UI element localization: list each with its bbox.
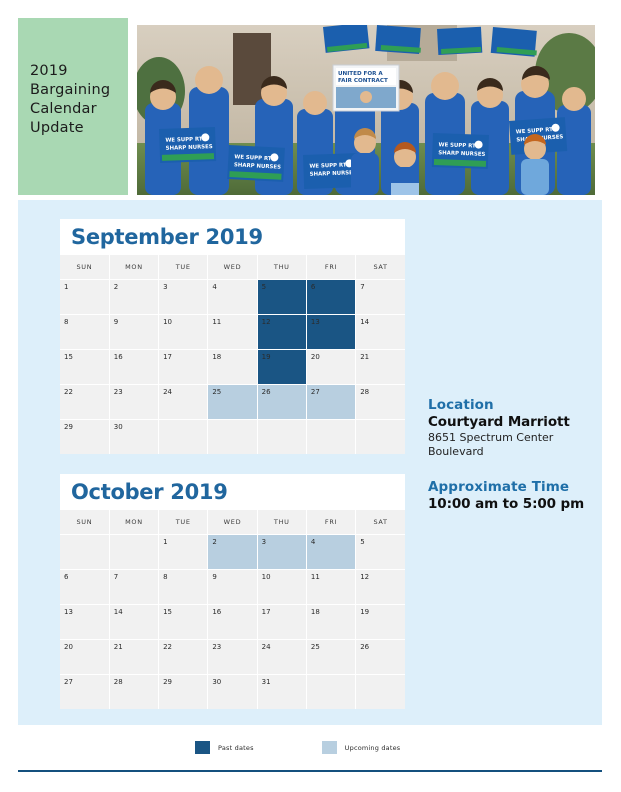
calendar-empty-cell xyxy=(60,535,109,570)
svg-text:UNITED FOR A: UNITED FOR A xyxy=(338,71,383,77)
calendar-empty-cell xyxy=(208,420,257,455)
calendar-day-cell[interactable]: 12 xyxy=(356,570,405,605)
calendar-day-cell[interactable]: 23 xyxy=(109,385,158,420)
calendar-day-cell[interactable]: 12 xyxy=(257,315,306,350)
calendar-week-row: 1234567 xyxy=(60,280,405,315)
weekday-sat: SAT xyxy=(356,510,405,535)
weekday-fri: FRI xyxy=(306,255,355,280)
weekday-sun: SUN xyxy=(60,510,109,535)
calendar-day-cell[interactable]: 3 xyxy=(159,280,208,315)
calendar-day-cell[interactable]: 24 xyxy=(257,640,306,675)
weekday-thu: THU xyxy=(257,510,306,535)
calendar-title-september: September 2019 xyxy=(71,225,263,249)
footer-divider xyxy=(18,770,602,772)
calendar-day-cell[interactable]: 27 xyxy=(306,385,355,420)
calendar-week-row: 12345 xyxy=(60,535,405,570)
calendar-day-cell[interactable]: 7 xyxy=(109,570,158,605)
calendar-day-cell[interactable]: 24 xyxy=(159,385,208,420)
calendar-day-cell[interactable]: 16 xyxy=(109,350,158,385)
calendar-september: September 2019 SUN MON TUE WED THU FRI S… xyxy=(60,219,405,454)
calendar-day-cell[interactable]: 15 xyxy=(60,350,109,385)
page-title: 2019 Bargaining Calendar Update xyxy=(30,62,122,138)
legend-item-upcoming: Upcoming dates xyxy=(322,741,401,754)
calendar-day-cell[interactable]: 14 xyxy=(109,605,158,640)
calendar-day-cell[interactable]: 29 xyxy=(60,420,109,455)
location-heading: Location xyxy=(428,397,603,413)
rally-photo-illustration: UNITED FOR A FAIR CONTRACT WE SUPP RT SH… xyxy=(137,25,595,195)
calendar-day-cell[interactable]: 25 xyxy=(306,640,355,675)
calendar-day-cell[interactable]: 9 xyxy=(109,315,158,350)
calendar-day-cell[interactable]: 6 xyxy=(306,280,355,315)
legend-label-past: Past dates xyxy=(218,744,254,752)
weekday-mon: MON xyxy=(109,255,158,280)
calendar-week-row: 2728293031 xyxy=(60,675,405,710)
calendar-day-cell[interactable]: 18 xyxy=(208,350,257,385)
calendar-title-bar-september: September 2019 xyxy=(60,219,405,255)
calendar-day-cell[interactable]: 31 xyxy=(257,675,306,710)
legend-swatch-upcoming-icon xyxy=(322,741,337,754)
calendar-day-cell[interactable]: 4 xyxy=(208,280,257,315)
calendar-day-cell[interactable]: 1 xyxy=(159,535,208,570)
calendar-title-bar-october: October 2019 xyxy=(60,474,405,510)
calendar-day-cell[interactable]: 1 xyxy=(60,280,109,315)
weekday-sat: SAT xyxy=(356,255,405,280)
title-block: 2019 Bargaining Calendar Update xyxy=(18,18,128,195)
calendar-day-cell[interactable]: 10 xyxy=(257,570,306,605)
calendar-day-cell[interactable]: 11 xyxy=(208,315,257,350)
calendar-day-cell[interactable]: 26 xyxy=(257,385,306,420)
calendar-day-cell[interactable]: 25 xyxy=(208,385,257,420)
calendar-empty-cell xyxy=(257,420,306,455)
calendar-week-row: 22232425262728 xyxy=(60,385,405,420)
calendar-empty-cell xyxy=(356,675,405,710)
calendar-day-cell[interactable]: 27 xyxy=(60,675,109,710)
calendar-week-row: 13141516171819 xyxy=(60,605,405,640)
calendar-day-cell[interactable]: 5 xyxy=(356,535,405,570)
calendar-empty-cell xyxy=(159,420,208,455)
time-value: 10:00 am to 5:00 pm xyxy=(428,496,603,512)
calendar-grid-october: SUN MON TUE WED THU FRI SAT 123456789101… xyxy=(60,510,405,709)
calendar-day-cell[interactable]: 22 xyxy=(60,385,109,420)
legend-swatch-past-icon xyxy=(195,741,210,754)
weekday-mon: MON xyxy=(109,510,158,535)
calendar-day-cell[interactable]: 19 xyxy=(356,605,405,640)
calendar-week-row: 6789101112 xyxy=(60,570,405,605)
calendar-day-cell[interactable]: 9 xyxy=(208,570,257,605)
calendar-day-cell[interactable]: 30 xyxy=(208,675,257,710)
legend-item-past: Past dates xyxy=(195,741,254,754)
calendar-day-cell[interactable]: 30 xyxy=(109,420,158,455)
calendar-grid-september: SUN MON TUE WED THU FRI SAT 123456789101… xyxy=(60,255,405,454)
calendar-week-row: 891011121314 xyxy=(60,315,405,350)
calendar-day-cell[interactable]: 17 xyxy=(159,350,208,385)
calendar-empty-cell xyxy=(356,420,405,455)
calendar-day-cell[interactable]: 21 xyxy=(356,350,405,385)
weekday-header-row: SUN MON TUE WED THU FRI SAT xyxy=(60,255,405,280)
content-panel: September 2019 SUN MON TUE WED THU FRI S… xyxy=(18,200,602,725)
calendar-empty-cell xyxy=(306,675,355,710)
calendar-day-cell[interactable]: 11 xyxy=(306,570,355,605)
legend-label-upcoming: Upcoming dates xyxy=(345,744,401,752)
calendar-week-row: 2930 xyxy=(60,420,405,455)
weekday-thu: THU xyxy=(257,255,306,280)
calendar-week-row: 15161718192021 xyxy=(60,350,405,385)
calendar-day-cell[interactable]: 17 xyxy=(257,605,306,640)
time-heading: Approximate Time xyxy=(428,479,603,495)
calendar-day-cell[interactable]: 15 xyxy=(159,605,208,640)
calendar-day-cell[interactable]: 7 xyxy=(356,280,405,315)
svg-text:FAIR CONTRACT: FAIR CONTRACT xyxy=(338,78,388,84)
calendar-day-cell[interactable]: 6 xyxy=(60,570,109,605)
calendar-day-cell[interactable]: 22 xyxy=(159,640,208,675)
calendar-day-cell[interactable]: 29 xyxy=(159,675,208,710)
calendar-empty-cell xyxy=(109,535,158,570)
weekday-wed: WED xyxy=(208,255,257,280)
calendar-day-cell[interactable]: 8 xyxy=(60,315,109,350)
calendar-day-cell[interactable]: 10 xyxy=(159,315,208,350)
calendar-day-cell[interactable]: 13 xyxy=(60,605,109,640)
calendar-week-row: 20212223242526 xyxy=(60,640,405,675)
calendar-day-cell[interactable]: 20 xyxy=(306,350,355,385)
calendar-day-cell[interactable]: 18 xyxy=(306,605,355,640)
weekday-wed: WED xyxy=(208,510,257,535)
calendar-empty-cell xyxy=(306,420,355,455)
calendar-day-cell[interactable]: 28 xyxy=(109,675,158,710)
rally-photo: UNITED FOR A FAIR CONTRACT WE SUPP RT SH… xyxy=(137,25,595,195)
calendar-day-cell[interactable]: 20 xyxy=(60,640,109,675)
calendar-body-october: 1234567891011121314151617181920212223242… xyxy=(60,535,405,710)
weekday-tue: TUE xyxy=(159,510,208,535)
weekday-fri: FRI xyxy=(306,510,355,535)
info-spacer xyxy=(428,459,603,479)
calendar-day-cell[interactable]: 5 xyxy=(257,280,306,315)
calendar-day-cell[interactable]: 16 xyxy=(208,605,257,640)
calendar-day-cell[interactable]: 26 xyxy=(356,640,405,675)
weekday-tue: TUE xyxy=(159,255,208,280)
calendar-day-cell[interactable]: 23 xyxy=(208,640,257,675)
location-name: Courtyard Marriott xyxy=(428,414,603,430)
page: 2019 Bargaining Calendar Update xyxy=(0,0,621,792)
calendar-body-september: 1234567891011121314151617181920212223242… xyxy=(60,280,405,455)
calendar-day-cell[interactable]: 4 xyxy=(306,535,355,570)
location-address: 8651 Spectrum Center Boulevard xyxy=(428,431,603,459)
legend: Past dates Upcoming dates xyxy=(195,741,400,754)
weekday-header-row: SUN MON TUE WED THU FRI SAT xyxy=(60,510,405,535)
calendar-october: October 2019 SUN MON TUE WED THU FRI SAT… xyxy=(60,474,405,709)
calendar-day-cell[interactable]: 28 xyxy=(356,385,405,420)
calendar-day-cell[interactable]: 3 xyxy=(257,535,306,570)
calendar-day-cell[interactable]: 19 xyxy=(257,350,306,385)
calendar-day-cell[interactable]: 2 xyxy=(208,535,257,570)
weekday-sun: SUN xyxy=(60,255,109,280)
calendar-day-cell[interactable]: 13 xyxy=(306,315,355,350)
calendar-day-cell[interactable]: 2 xyxy=(109,280,158,315)
event-details: Location Courtyard Marriott 8651 Spectru… xyxy=(428,397,603,513)
calendar-title-october: October 2019 xyxy=(71,480,228,504)
calendar-day-cell[interactable]: 21 xyxy=(109,640,158,675)
calendar-day-cell[interactable]: 8 xyxy=(159,570,208,605)
calendar-day-cell[interactable]: 14 xyxy=(356,315,405,350)
